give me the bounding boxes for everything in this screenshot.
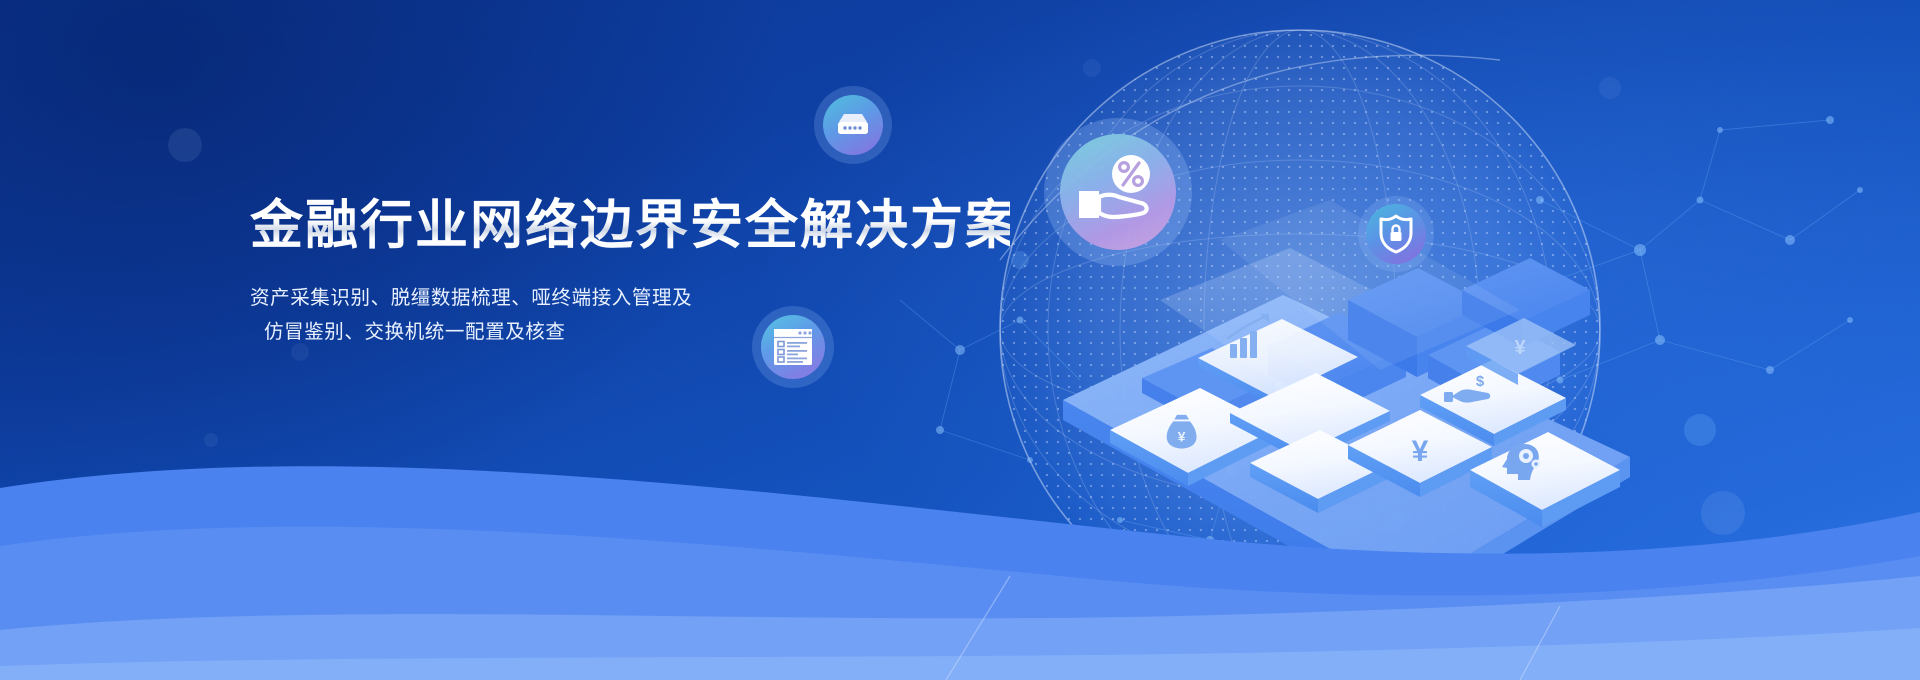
banner-subtitle: 资产采集识别、脱缰数据梳理、哑终端接入管理及 仿冒鉴别、交换机统一配置及核查 bbox=[250, 281, 1010, 349]
banner-copy: 金融行业网络边界安全解决方案 资产采集识别、脱缰数据梳理、哑终端接入管理及 仿冒… bbox=[250, 196, 1010, 349]
yuan-symbol-small-icon: ¥ bbox=[1514, 337, 1526, 359]
subtitle-line-2: 仿冒鉴别、交换机统一配置及核查 bbox=[250, 315, 1010, 349]
shield-lock-icon bbox=[1377, 213, 1415, 255]
tile-yuan-small: ¥ bbox=[1466, 318, 1576, 385]
document-list-icon bbox=[772, 327, 814, 367]
hand-percent-badge bbox=[1044, 118, 1192, 266]
hero-banner: ¥ bbox=[0, 0, 1920, 680]
wave-decoration bbox=[0, 380, 1920, 680]
decor-circle bbox=[1083, 59, 1101, 77]
router-badge bbox=[814, 86, 892, 164]
decor-circle bbox=[1599, 77, 1621, 99]
hand-percent-icon bbox=[1073, 153, 1163, 231]
shield-badge bbox=[1358, 196, 1434, 272]
growth-chart-icon bbox=[1228, 314, 1269, 358]
page-title: 金融行业网络边界安全解决方案 bbox=[250, 196, 1010, 255]
decor-circle bbox=[168, 128, 202, 162]
router-icon bbox=[834, 110, 872, 140]
subtitle-line-1: 资产采集识别、脱缰数据梳理、哑终端接入管理及 bbox=[250, 281, 1010, 315]
